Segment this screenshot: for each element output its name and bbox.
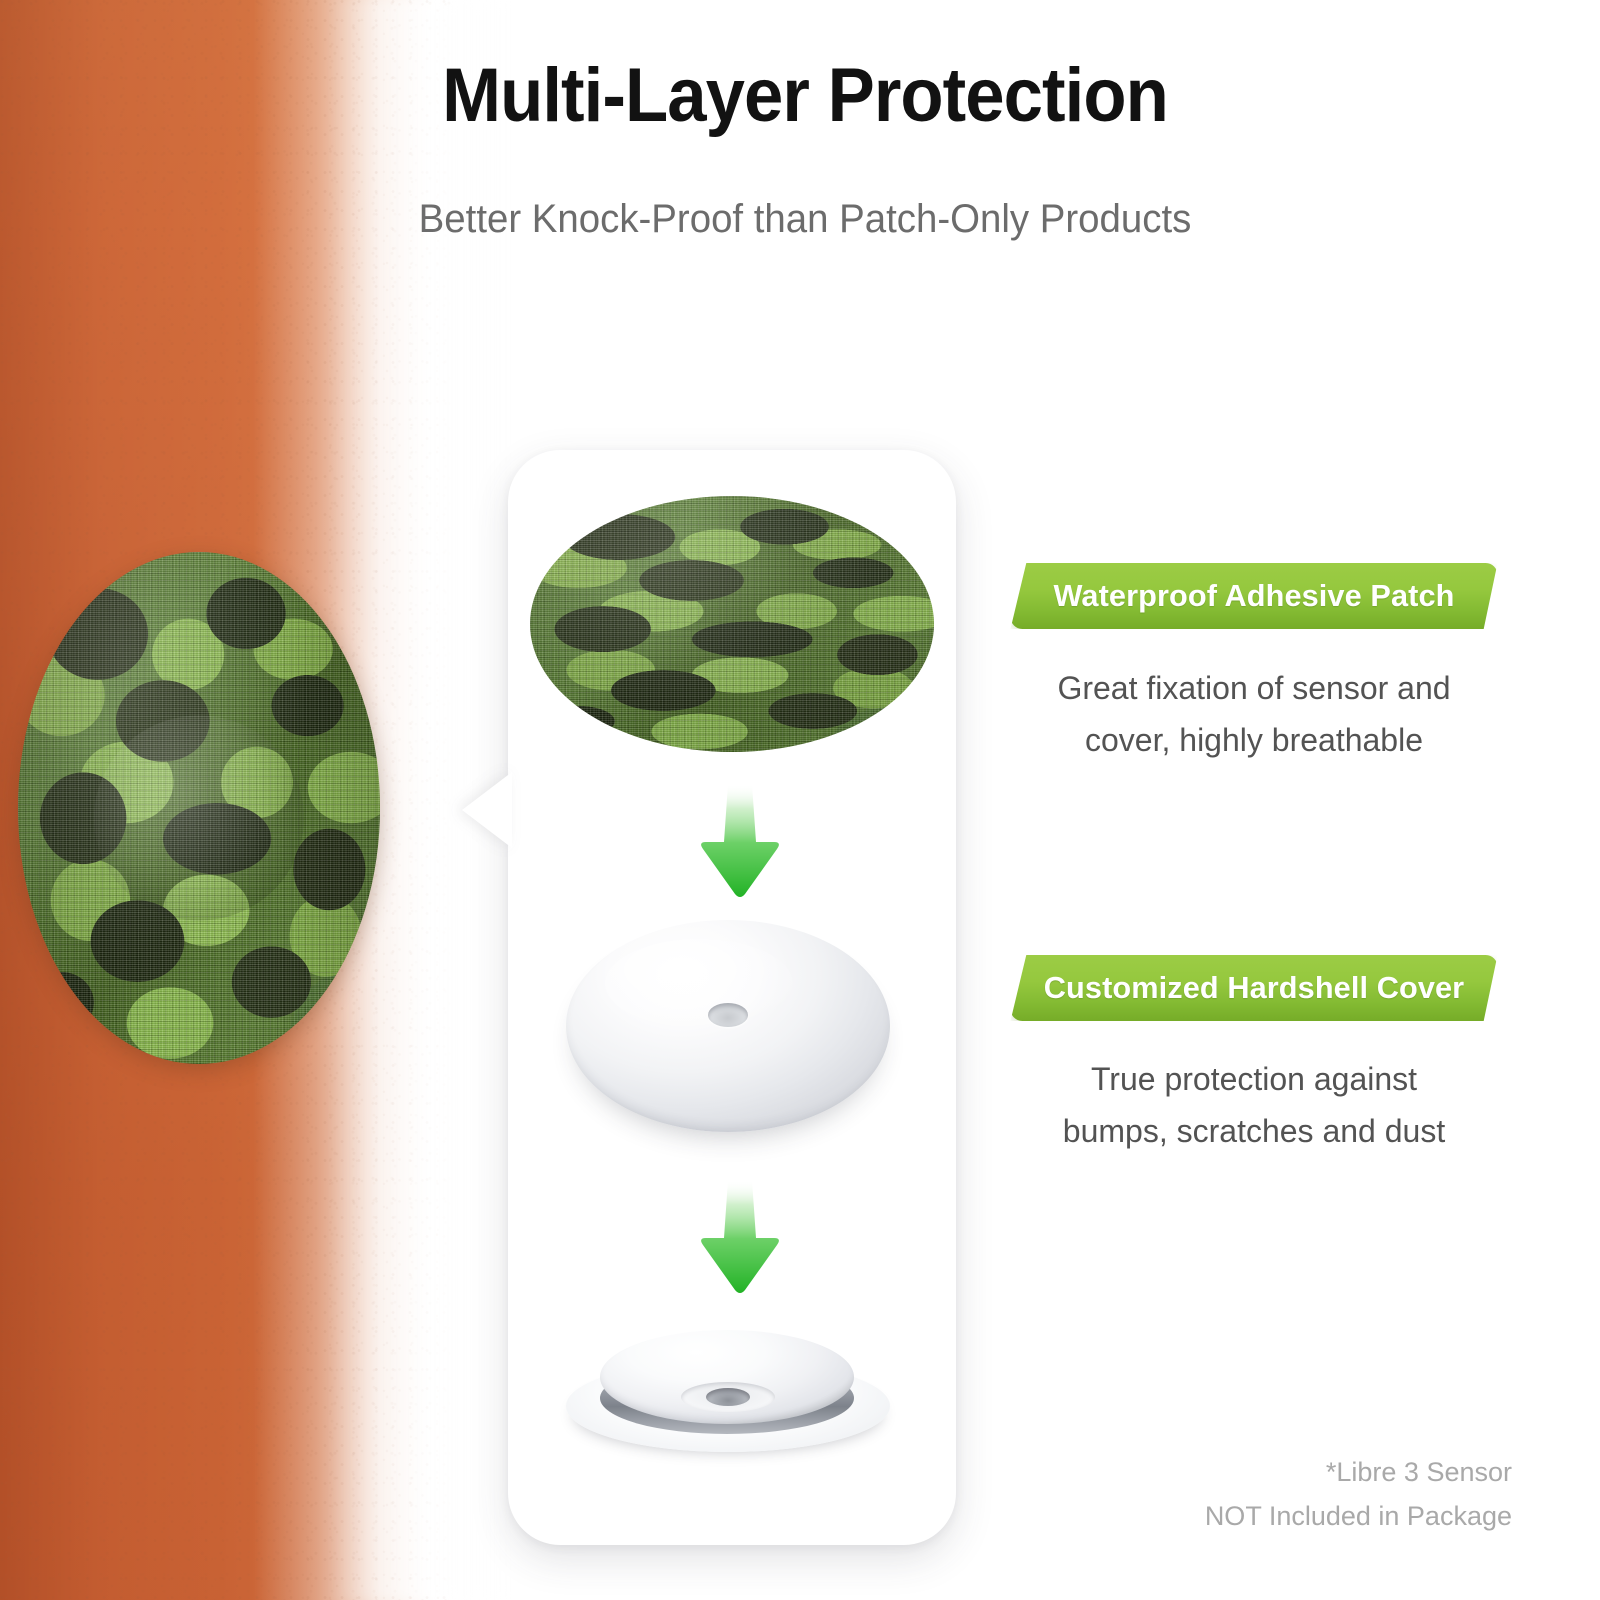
cover-highlight [605, 939, 793, 1028]
layer-waterproof-adhesive-patch [530, 496, 934, 752]
feature-description-patch-line2: cover, highly breathable [1008, 714, 1500, 766]
arrow-down-icon [692, 1178, 788, 1298]
feature-description-cover-line2: bumps, scratches and dust [1008, 1105, 1500, 1157]
feature-description-cover-line1: True protection against [1008, 1053, 1500, 1105]
callout-pointer-triangle [462, 772, 512, 848]
page-title: Multi-Layer Protection [335, 52, 1274, 139]
patch-shading-overlay [530, 496, 934, 752]
cover-center-vent-hole [708, 1003, 748, 1027]
feature-description-cover: True protection against bumps, scratches… [1008, 1053, 1500, 1157]
disclaimer: *Libre 3 Sensor NOT Included in Package [1205, 1450, 1512, 1538]
page-subtitle: Better Knock-Proof than Patch-Only Produ… [320, 197, 1290, 242]
feature-badge-waterproof-adhesive-patch: Waterproof Adhesive Patch [1010, 563, 1497, 629]
feature-badge-customized-hardshell-cover: Customized Hardshell Cover [1010, 955, 1497, 1021]
sensor-center-bore [706, 1388, 750, 1406]
disclaimer-line2: NOT Included in Package [1205, 1494, 1512, 1538]
patch-shading-overlay [18, 552, 380, 1064]
feature-description-patch: Great fixation of sensor and cover, high… [1008, 662, 1500, 766]
layer-libre-3-sensor [566, 1308, 890, 1456]
feature-description-patch-line1: Great fixation of sensor and [1008, 662, 1500, 714]
arrow-down-icon [692, 782, 788, 902]
disclaimer-line1: *Libre 3 Sensor [1205, 1450, 1512, 1494]
layer-hardshell-cover [566, 920, 890, 1132]
worn-camo-patch-on-arm [18, 552, 380, 1064]
